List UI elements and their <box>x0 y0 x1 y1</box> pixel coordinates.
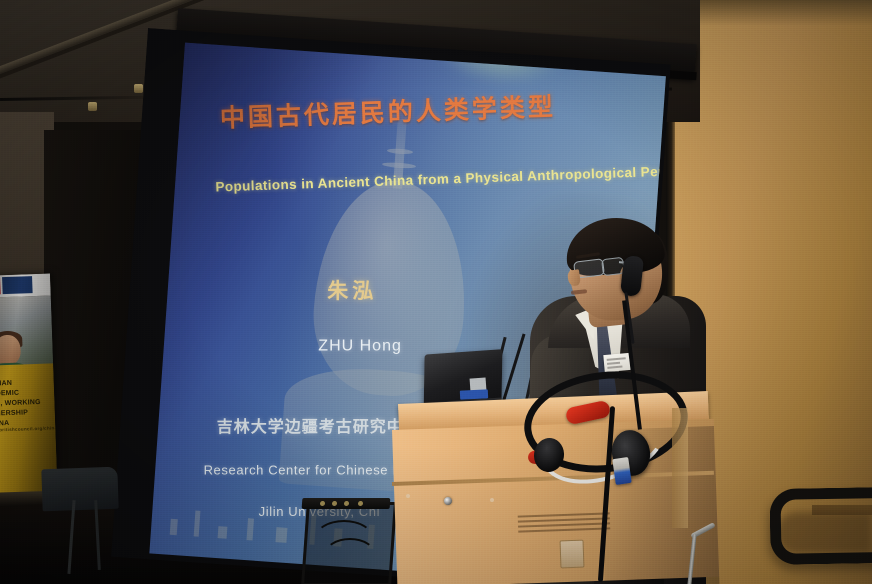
lectern-fastener <box>490 498 494 502</box>
banner-headline: E THAN CADEMIC ERS, WORKING RTNERSHIP CH… <box>0 377 53 429</box>
track-light-clip <box>88 102 97 111</box>
av-rack-connector <box>358 501 363 506</box>
chair-silhouette <box>41 467 118 512</box>
banner-photo <box>0 295 53 367</box>
speaker-name-badge <box>603 353 630 372</box>
vga-connector <box>612 457 631 485</box>
banner-stand-base <box>0 491 46 507</box>
banner-logo-blue-block <box>2 276 33 294</box>
rollup-banner: E THAN CADEMIC ERS, WORKING RTNERSHIP CH… <box>0 273 58 497</box>
banner-header <box>0 273 51 297</box>
av-equipment-rack <box>300 498 392 584</box>
av-rack-connector <box>320 501 325 506</box>
av-rack-connector <box>332 501 337 506</box>
presentation-photograph: 中国古代居民的人类学类型 Populations in Ancient Chin… <box>0 0 872 584</box>
wall-power-outlet[interactable] <box>560 540 585 569</box>
banner-logo-red-block <box>0 277 1 295</box>
track-light-clip <box>134 84 143 93</box>
lectern-fastener <box>406 494 410 498</box>
wall-trim-plate <box>672 408 688 528</box>
right-wall-shadow <box>672 0 872 26</box>
av-rack-cable <box>324 538 376 572</box>
av-rack-top-panel <box>302 498 391 509</box>
wall-mounted-handrail <box>769 487 872 565</box>
speaker-nose <box>567 269 581 287</box>
av-rack-connector <box>344 501 349 506</box>
lectern-cable-grommet <box>444 497 452 505</box>
lectern-vent-slots <box>518 510 611 535</box>
